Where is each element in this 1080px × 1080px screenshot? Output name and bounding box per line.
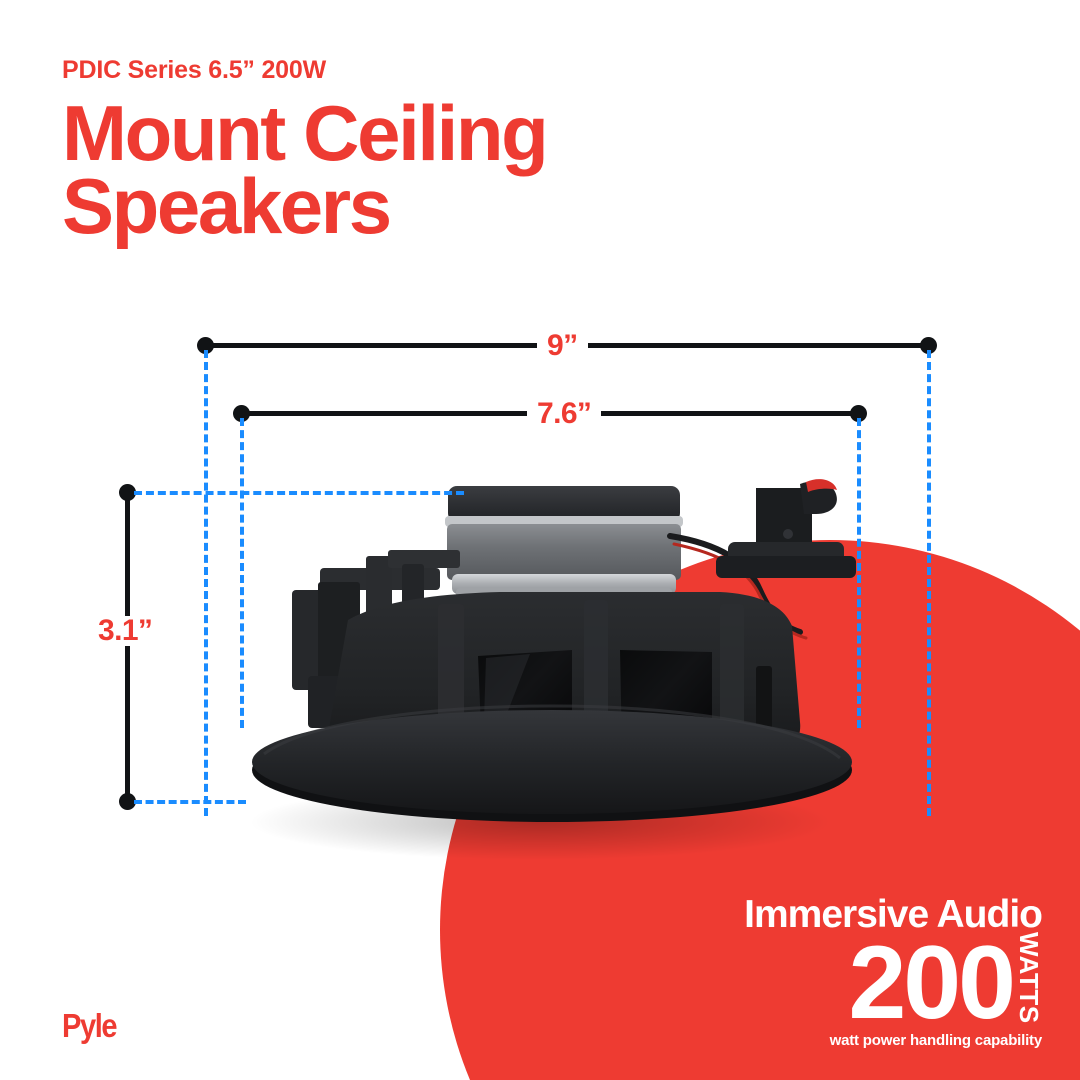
dim-line-depth xyxy=(125,498,130,803)
callout-number-row: 200 WATTS xyxy=(744,932,1042,1028)
brand-logo-pyle: Pyle xyxy=(62,1009,116,1042)
callout-wattage-unit: WATTS xyxy=(1016,932,1042,1024)
ext-line-depth-top xyxy=(134,491,464,495)
product-infographic: PDIC Series 6.5” 200W Mount Ceiling Spea… xyxy=(0,0,1080,1080)
ext-line-depth-bottom xyxy=(134,800,246,804)
ext-line-overall-right xyxy=(927,350,931,816)
dim-label-width-cutout: 7.6” xyxy=(527,399,601,429)
power-callout: Immersive Audio 200 WATTS watt power han… xyxy=(744,895,1042,1048)
ext-line-cutout-right xyxy=(857,418,861,728)
ext-line-overall-left xyxy=(204,350,208,816)
ext-line-cutout-left xyxy=(240,418,244,728)
callout-wattage-number: 200 xyxy=(848,939,1013,1028)
dim-label-depth: 3.1” xyxy=(88,616,162,646)
callout-subtitle: watt power handling capability xyxy=(744,1033,1042,1048)
dim-label-width-overall: 9” xyxy=(537,331,588,361)
